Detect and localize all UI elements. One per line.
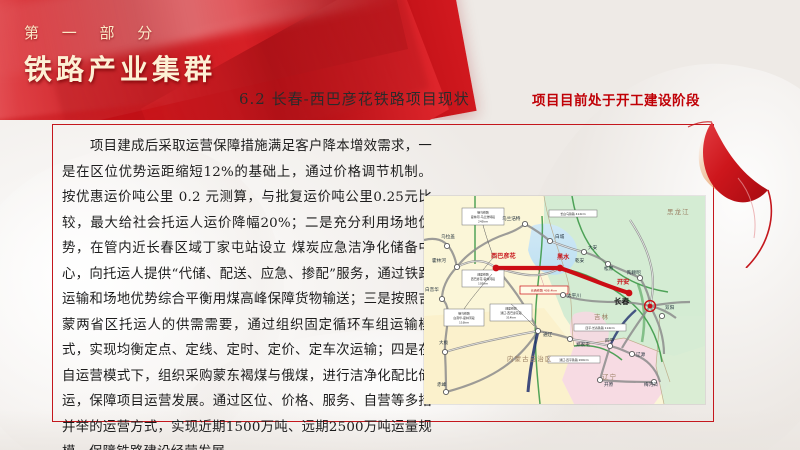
map-key-station (557, 265, 564, 272)
map-station-node (442, 349, 447, 354)
map-callout: 通霍铁路通辽-西巴彦花段314km (490, 304, 532, 321)
map-city-label: 白音华 (425, 286, 439, 293)
svg-text:105km: 105km (478, 282, 488, 286)
section-title: 6.2 长春-西巴彦花铁路项目现状 (239, 88, 470, 109)
map-key-label: 黑水 (557, 253, 570, 261)
map-city-label: 白城 (555, 233, 565, 240)
svg-text:通霍铁路: 通霍铁路 (505, 306, 517, 311)
map-callout: 锡乌铁路霍林河-乌兰浩特段245km (462, 208, 504, 225)
railway-route-map: 锡乌铁路霍林河-乌兰浩特段245km通霍铁路西巴彦花-霍林河段105km锡乌铁路… (424, 196, 705, 404)
map-station-node (522, 221, 527, 226)
map-station-node (439, 296, 444, 301)
svg-text:长白乌铁路 412km: 长白乌铁路 412km (560, 211, 586, 216)
map-callout: 通辽-四平铁路 200km (548, 356, 600, 363)
map-station-node (629, 351, 634, 356)
map-callout: 长白乌铁路 412km (549, 210, 597, 217)
svg-text:西巴彦花-霍林河段: 西巴彦花-霍林河段 (471, 276, 495, 281)
map-key-label: 乾安 (575, 257, 585, 264)
svg-text:245km: 245km (478, 220, 488, 224)
map-city-label: 松原 (604, 265, 614, 272)
map-province-label: 内蒙古自治区 (507, 354, 553, 363)
status-badge: 项目目前处于开工建设阶段 (532, 89, 700, 109)
map-city-label: 霍林河 (432, 257, 446, 264)
map-station-node (560, 292, 565, 297)
map-city-label: 通辽 (543, 331, 553, 338)
banner-text-group: 第 一 部 分 铁路产业集群 (24, 22, 216, 88)
map-city-label: 乌拉盖 (441, 233, 455, 240)
map-province-label: 辽宁 (602, 372, 617, 381)
body-paragraph: 项目建成后采取运营保障措施满足客户降本增效需求，一是在区位优势运距缩短12%的基… (62, 134, 432, 414)
svg-text:锡乌铁路: 锡乌铁路 (477, 210, 489, 215)
svg-text:长西铁路 408.4km: 长西铁路 408.4km (531, 287, 557, 292)
map-city-label: 大安 (588, 244, 598, 251)
map-station-node (581, 249, 586, 254)
svg-text:白音华-霍林河段: 白音华-霍林河段 (453, 315, 474, 320)
slide-canvas: 第 一 部 分 铁路产业集群 6.2 长春-西巴彦花铁路项目现状 项目目前处于开… (0, 0, 800, 450)
svg-text:通霍铁路: 通霍铁路 (477, 272, 489, 277)
map-city-label: 辽源 (636, 351, 646, 358)
map-city-label: 赤峰 (437, 381, 447, 388)
map-callout: 锡乌铁路白音华-霍林河段116km (444, 309, 484, 326)
map-station-node (454, 264, 459, 269)
map-key-label: 西巴彦花 (491, 252, 517, 260)
map-station-node (444, 243, 449, 248)
map-province-label: 黑龙江 (667, 207, 690, 216)
part-title: 铁路产业集群 (24, 48, 216, 88)
map-key-station (626, 290, 633, 297)
map-station-node (443, 389, 448, 394)
map-city-label: 梅河口 (644, 381, 658, 388)
svg-text:314km: 314km (506, 316, 516, 320)
map-station-node (659, 313, 664, 318)
svg-text:霍林河-乌兰浩特段: 霍林河-乌兰浩特段 (471, 214, 495, 219)
map-province-label: 吉林 (594, 312, 609, 321)
map-station-node (567, 336, 572, 341)
map-callout: 四平-长春铁路 114km (574, 324, 626, 331)
map-city-label: 大板 (439, 339, 449, 346)
map-key-station (493, 265, 500, 272)
svg-text:通辽-四平铁路 200km: 通辽-四平铁路 200km (559, 357, 588, 362)
svg-text:四平-长春铁路 114km: 四平-长春铁路 114km (585, 325, 614, 330)
map-city-label: 太平川 (567, 292, 581, 299)
map-city-label: 四平 (605, 338, 615, 344)
map-station-node (547, 238, 552, 243)
map-station-node (605, 261, 610, 266)
map-station-node (637, 275, 642, 280)
map-city-label: 乌兰浩特 (502, 215, 521, 222)
map-city-label: 双阳 (665, 304, 675, 311)
map-station-node (535, 328, 540, 333)
map-key-label: 开安 (617, 278, 629, 286)
section-heading-row: 6.2 长春-西巴彦花铁路项目现状 项目目前处于开工建设阶段 (0, 88, 800, 114)
svg-text:锡乌铁路: 锡乌铁路 (458, 311, 470, 316)
map-key-label: 长春 (614, 296, 630, 306)
map-city-label: 郑家屯 (576, 341, 590, 348)
map-city-label: 开原 (604, 382, 614, 388)
map-city-label: 陶赖昭 (627, 269, 641, 276)
svg-text:116km: 116km (459, 321, 469, 325)
part-label: 第 一 部 分 (24, 22, 216, 43)
map-station-node (607, 343, 612, 348)
